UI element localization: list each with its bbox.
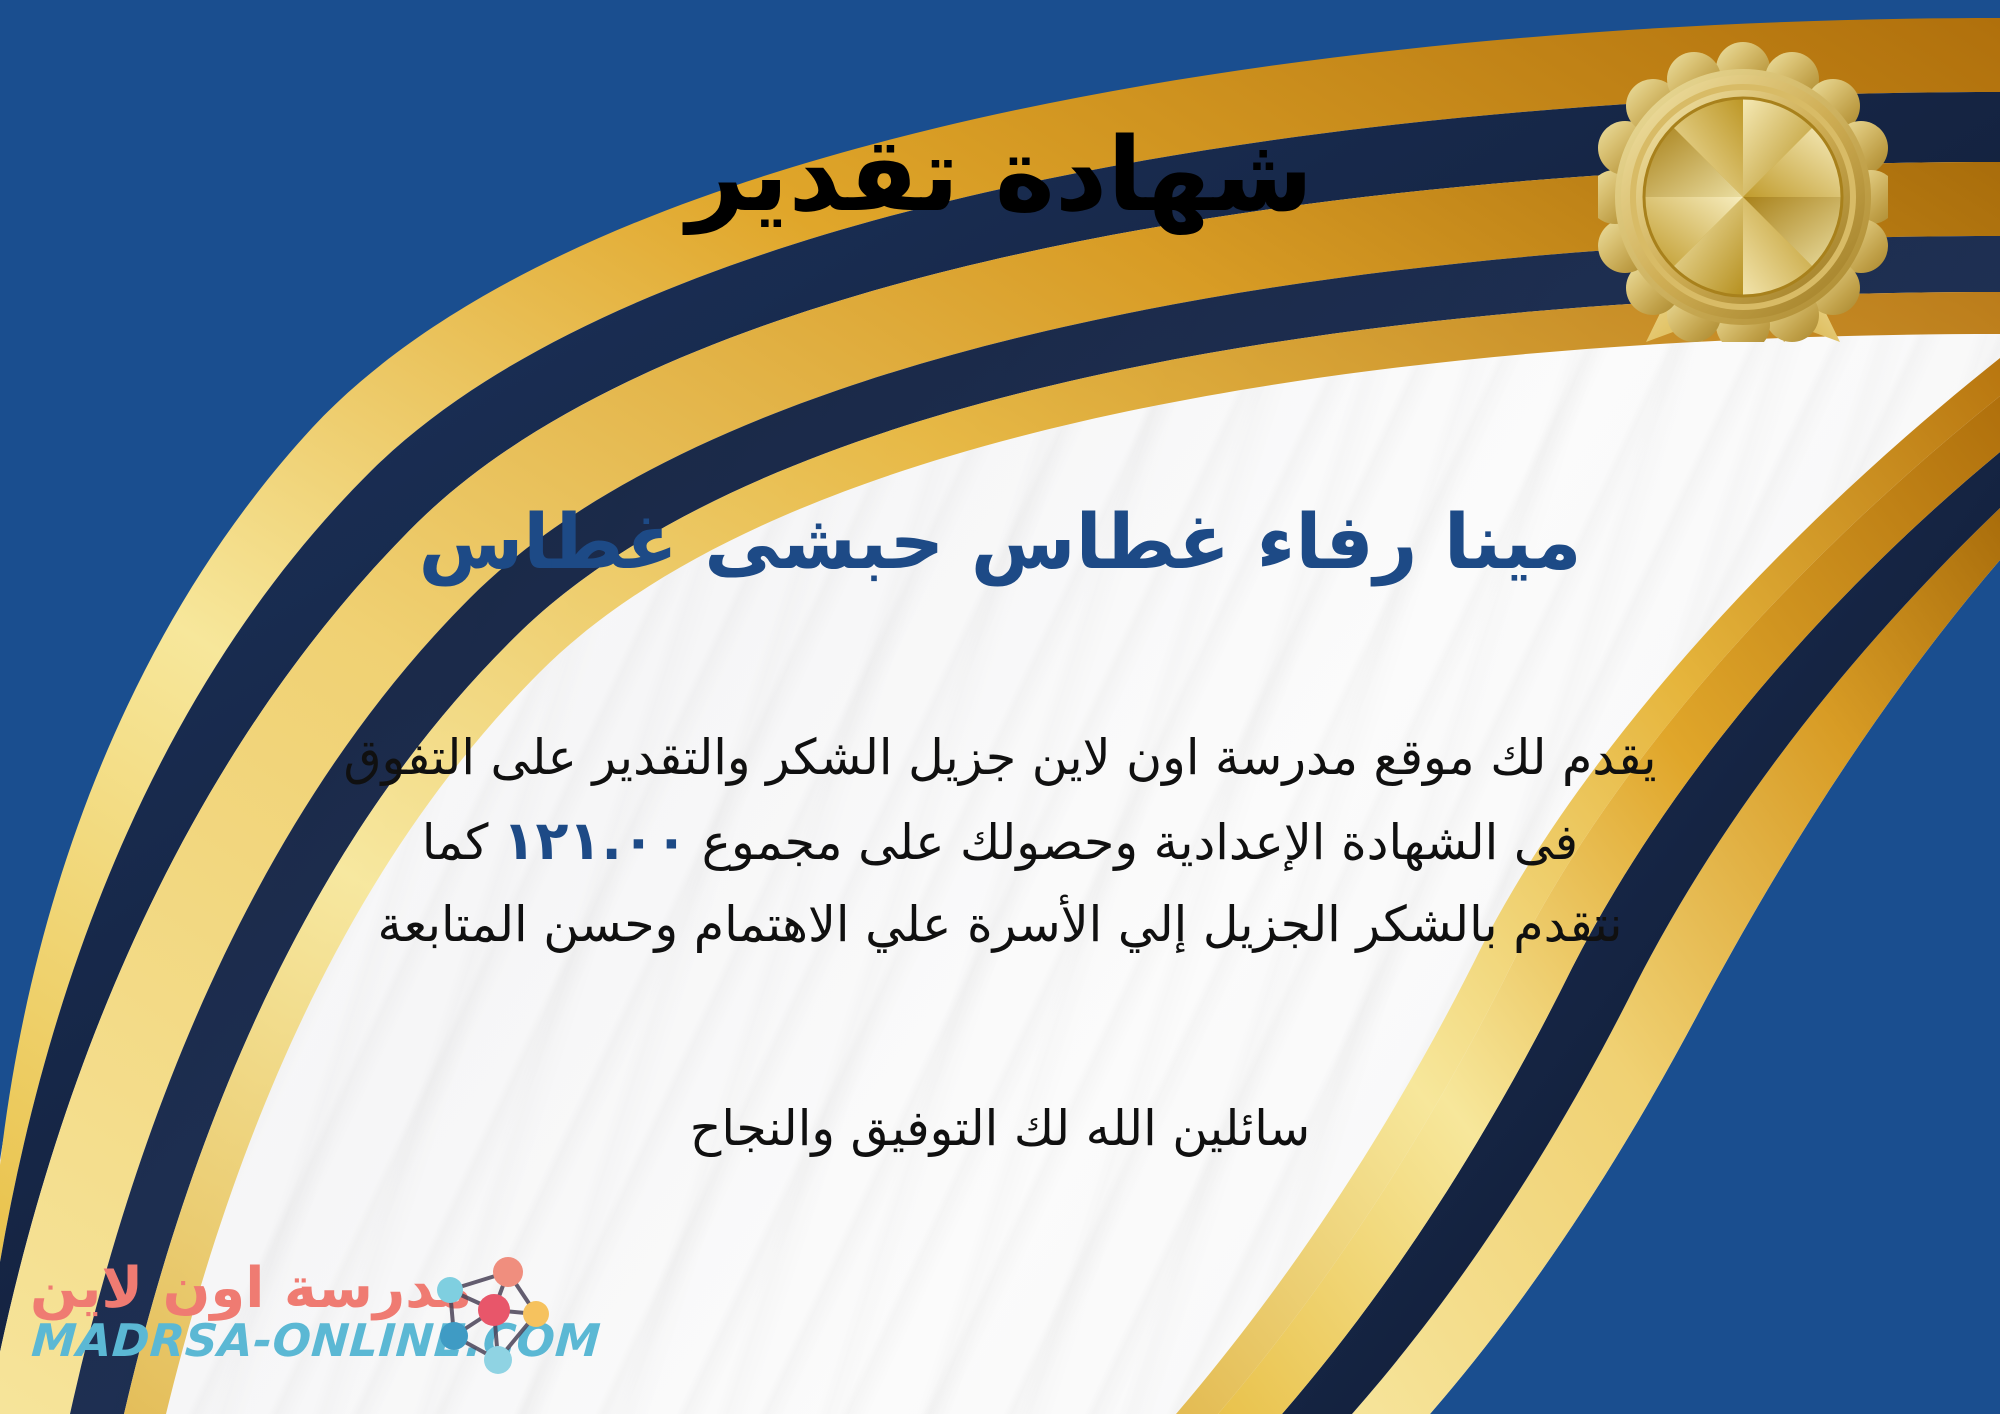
body-text: يقدم لك موقع مدرسة اون لاين جزيل الشكر و… (60, 718, 1940, 964)
total-score-value: ١٢١.٠٠ (488, 797, 701, 884)
body-line-2-prefix: فى الشهادة الإعدادية وحصولك على مجموع (702, 803, 1578, 882)
certificate-canvas: شهادة تقدير مينا رفاء غطاس حبشى غطاس يقد… (0, 0, 2000, 1414)
body-line-3: نتقدم بالشكر الجزيل إلي الأسرة علي الاهت… (60, 885, 1940, 964)
closing-wish: سائلين الله لك التوفيق والنجاح (0, 1100, 2000, 1157)
certificate-content: شهادة تقدير مينا رفاء غطاس حبشى غطاس يقد… (0, 0, 2000, 1414)
logo-text-rows: مدرسة اون لاين MADRSA-ONLINE.COM (30, 1238, 430, 1388)
body-line-1: يقدم لك موقع مدرسة اون لاين جزيل الشكر و… (60, 718, 1940, 797)
site-logo[interactable]: مدرسة اون لاين MADRSA-ONLINE.COM (22, 1238, 562, 1388)
body-line-2: فى الشهادة الإعدادية وحصولك على مجموع ١٢… (60, 797, 1940, 884)
recipient-name: مينا رفاء غطاس حبشى غطاس (0, 498, 2000, 585)
body-line-2-suffix: كما (422, 803, 489, 882)
logo-arabic-name: مدرسة اون لاين (30, 1261, 472, 1317)
page-title: شهادة تقدير (0, 120, 2000, 232)
network-nodes-icon (420, 1244, 560, 1384)
